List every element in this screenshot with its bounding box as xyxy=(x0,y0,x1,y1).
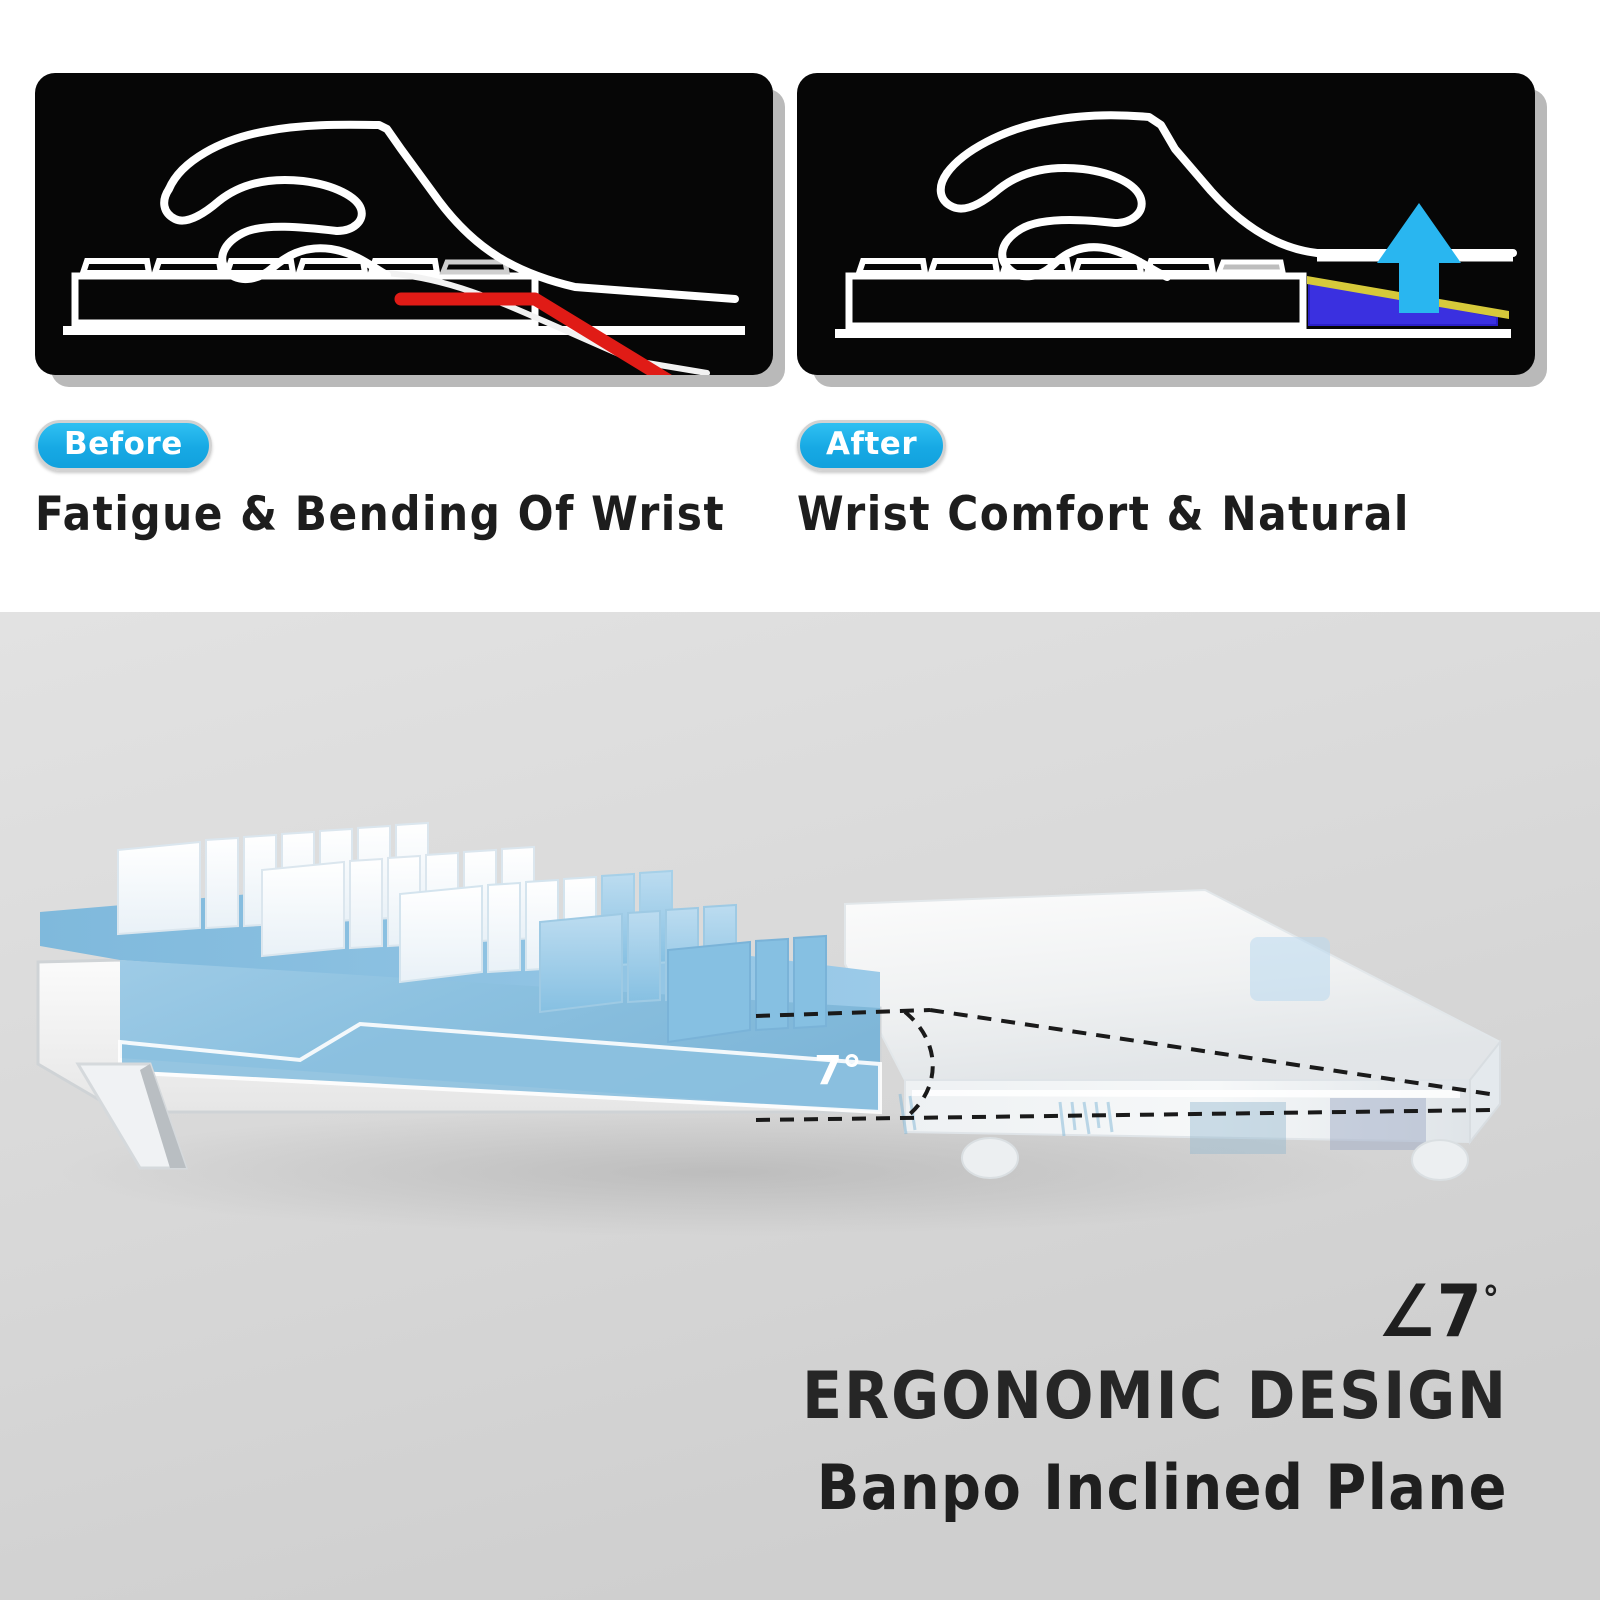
desk-surface-line xyxy=(835,329,1511,338)
wrist-rest-reflection-b xyxy=(1330,1098,1426,1150)
before-column: Before Fatigue & Bending Of Wrist xyxy=(35,73,773,542)
degree-symbol: ° xyxy=(1483,1279,1500,1320)
angle-callout: ∠7° xyxy=(1378,1275,1500,1347)
thumb-outline xyxy=(941,168,1142,223)
keycap xyxy=(118,842,200,934)
keycap xyxy=(540,914,622,1012)
keycap-row-right-dim xyxy=(443,262,507,272)
before-caption: Fatigue & Bending Of Wrist xyxy=(35,487,773,542)
after-illustration-panel xyxy=(797,73,1535,375)
before-diagram-svg xyxy=(35,73,773,375)
keycap xyxy=(628,911,660,1002)
keycap xyxy=(206,838,238,928)
angle-symbol: ∠ xyxy=(1378,1269,1437,1353)
keyboard-body-outline xyxy=(849,276,1303,326)
after-column: After Wrist Comfort & Natural xyxy=(797,73,1535,542)
after-badge-wrap: After xyxy=(797,375,1535,471)
comparison-section: Before Fatigue & Bending Of Wrist xyxy=(0,0,1600,612)
product-headline: ERGONOMIC DESIGN xyxy=(802,1364,1508,1429)
keycap xyxy=(400,886,482,982)
wrist-strain-line-red xyxy=(401,299,725,375)
wrist-rest-reflection-a xyxy=(1190,1102,1286,1154)
after-diagram-svg xyxy=(797,73,1535,375)
wrist-rest-foot-right xyxy=(1412,1140,1468,1180)
angle-label-on-case: 7° xyxy=(814,1048,862,1094)
keycap xyxy=(668,942,750,1042)
before-illustration-panel xyxy=(35,73,773,375)
before-badge: Before xyxy=(35,420,212,471)
product-subheadline: Banpo Inclined Plane xyxy=(817,1457,1508,1519)
wrist-rest-foot-left xyxy=(962,1138,1018,1178)
thumb-outline xyxy=(164,180,362,231)
keycap-row-right-dim xyxy=(1219,262,1283,272)
keycap xyxy=(488,883,520,972)
keycap-row-5 xyxy=(668,936,826,1042)
after-badge: After xyxy=(797,420,946,471)
desk-surface-line xyxy=(63,326,745,335)
before-badge-wrap: Before xyxy=(35,375,773,471)
keycap xyxy=(262,862,344,956)
after-caption: Wrist Comfort & Natural xyxy=(797,487,1535,542)
keycap xyxy=(350,859,382,948)
wrist-rest-logo-plate xyxy=(1250,937,1330,1001)
product-section: 7° ∠7° ERGONOMIC DESIGN Banpo Inclined P… xyxy=(0,612,1600,1600)
angle-number: 7 xyxy=(1437,1269,1483,1353)
